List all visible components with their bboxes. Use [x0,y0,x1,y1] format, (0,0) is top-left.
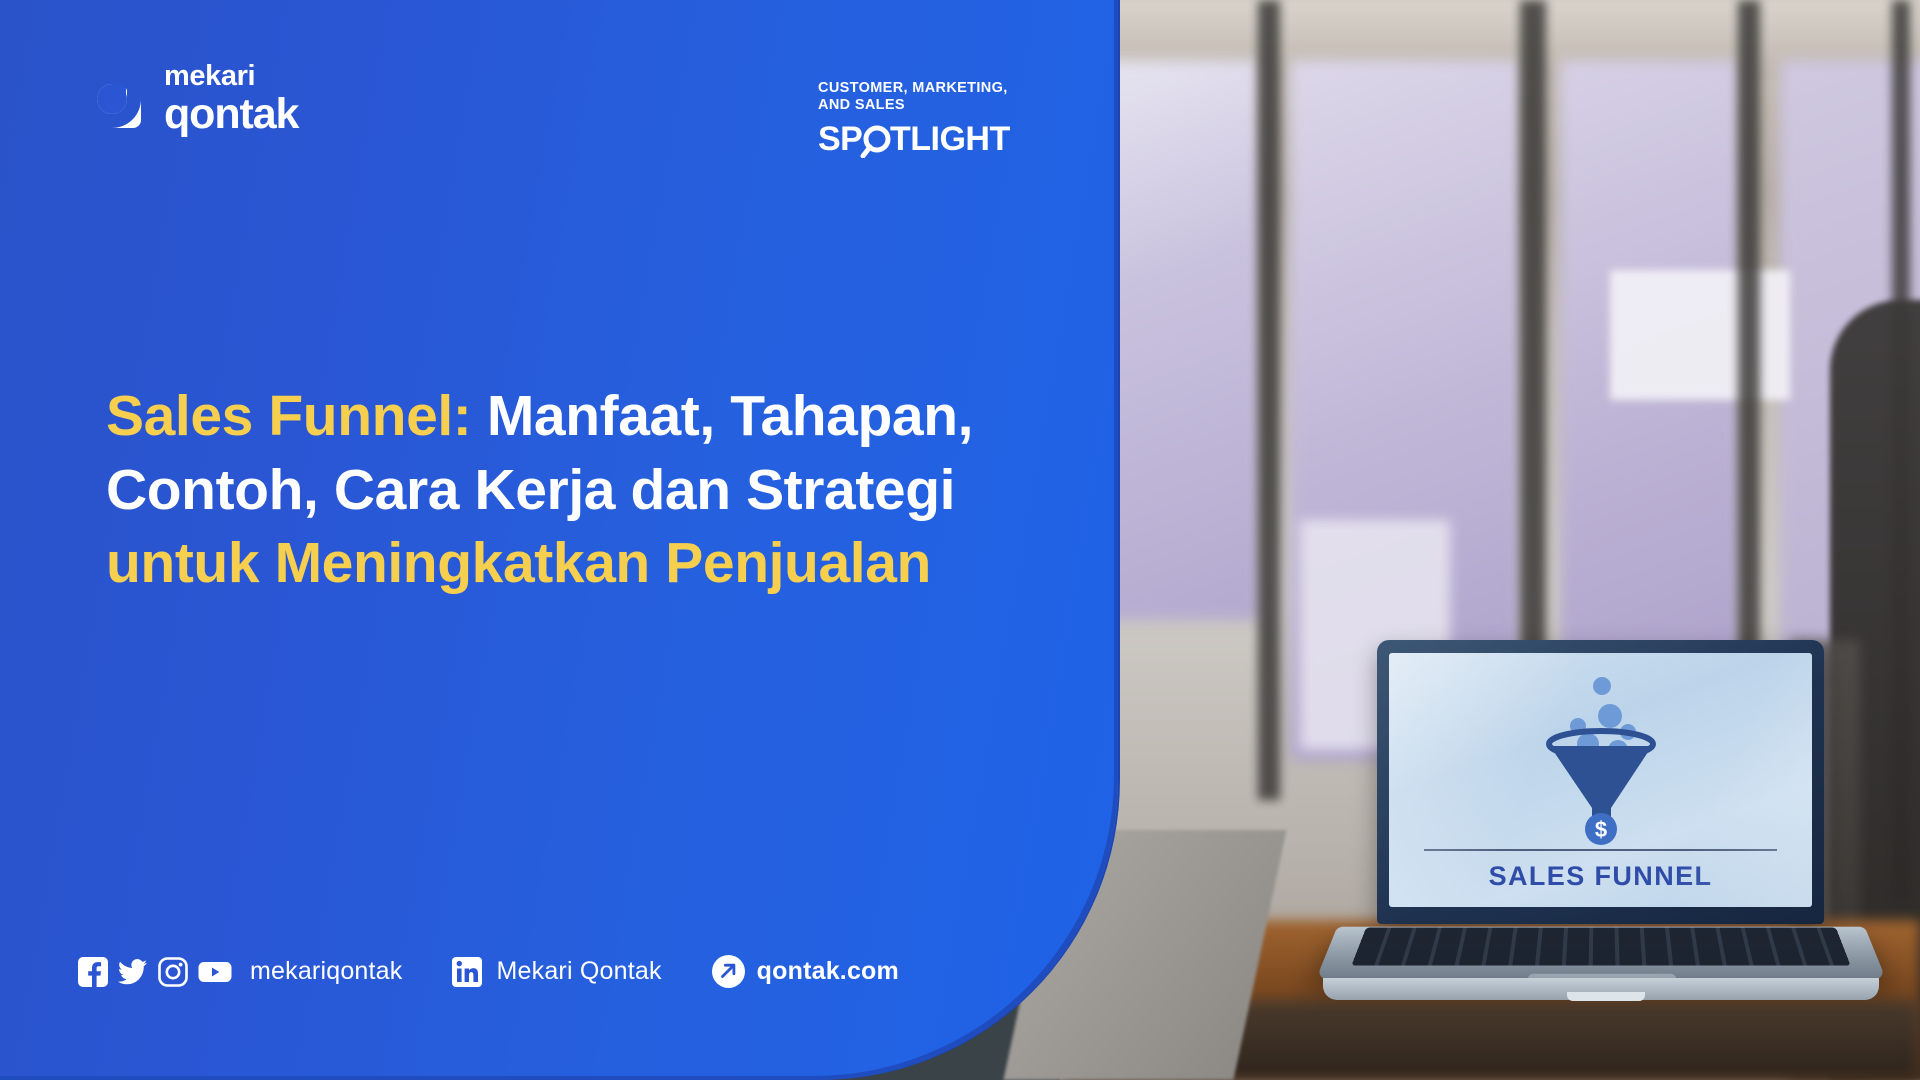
brand-logo[interactable]: mekari qontak [78,62,298,136]
twitter-icon[interactable] [118,957,148,987]
screen-glare [1389,653,1812,907]
spotlight-wordmark: SP TLIGHT [818,120,1058,158]
linkedin-icon[interactable] [452,957,482,987]
social-handle-group[interactable]: mekariqontak [78,957,402,987]
qontak-c-logo-icon [78,65,146,133]
social-icon-row [78,957,232,987]
laptop-lid: $ SALES FUNNEL [1377,640,1824,924]
headline-part-1: Sales Funnel: [106,384,471,448]
blue-content-panel: mekari qontak CUSTOMER, MARKETING, AND S… [0,0,1118,1080]
instagram-icon[interactable] [158,957,188,987]
social-footer: mekariqontak Mekari Qontak qontak.com [78,955,899,988]
arrow-up-right-circle-icon[interactable] [712,955,745,988]
headline-part-3: untuk Meningkatkan Penjualan [106,531,931,595]
laptop-keyboard [1351,927,1850,965]
facebook-icon[interactable] [78,957,108,987]
svg-text:TLIGHT: TLIGHT [890,120,1010,158]
website-label: qontak.com [757,957,899,986]
linkedin-label: Mekari Qontak [496,957,661,986]
linkedin-group[interactable]: Mekari Qontak [452,957,661,987]
svg-text:SP: SP [818,120,862,158]
laptop-notch [1567,992,1645,1001]
logo-wordmark: mekari qontak [164,62,298,136]
page-title: Sales Funnel: Manfaat, Tahapan, Contoh, … [106,380,1046,601]
spotlight-kicker-line2: AND SALES [818,97,1058,114]
laptop: $ SALES FUNNEL [1377,640,1877,1060]
magnifying-glass-icon [863,128,888,156]
laptop-screen: $ SALES FUNNEL [1389,653,1812,907]
social-handle-label: mekariqontak [250,957,402,986]
spotlight-badge: CUSTOMER, MARKETING, AND SALES SP TLIGHT [818,80,1058,158]
logo-mekari-text: mekari [164,62,298,91]
logo-qontak-text: qontak [164,93,298,136]
website-group[interactable]: qontak.com [712,955,899,988]
youtube-icon[interactable] [198,957,232,987]
poster-canvas: $ SALES FUNNEL [0,0,1920,1080]
spotlight-kicker-line1: CUSTOMER, MARKETING, [818,80,1058,97]
